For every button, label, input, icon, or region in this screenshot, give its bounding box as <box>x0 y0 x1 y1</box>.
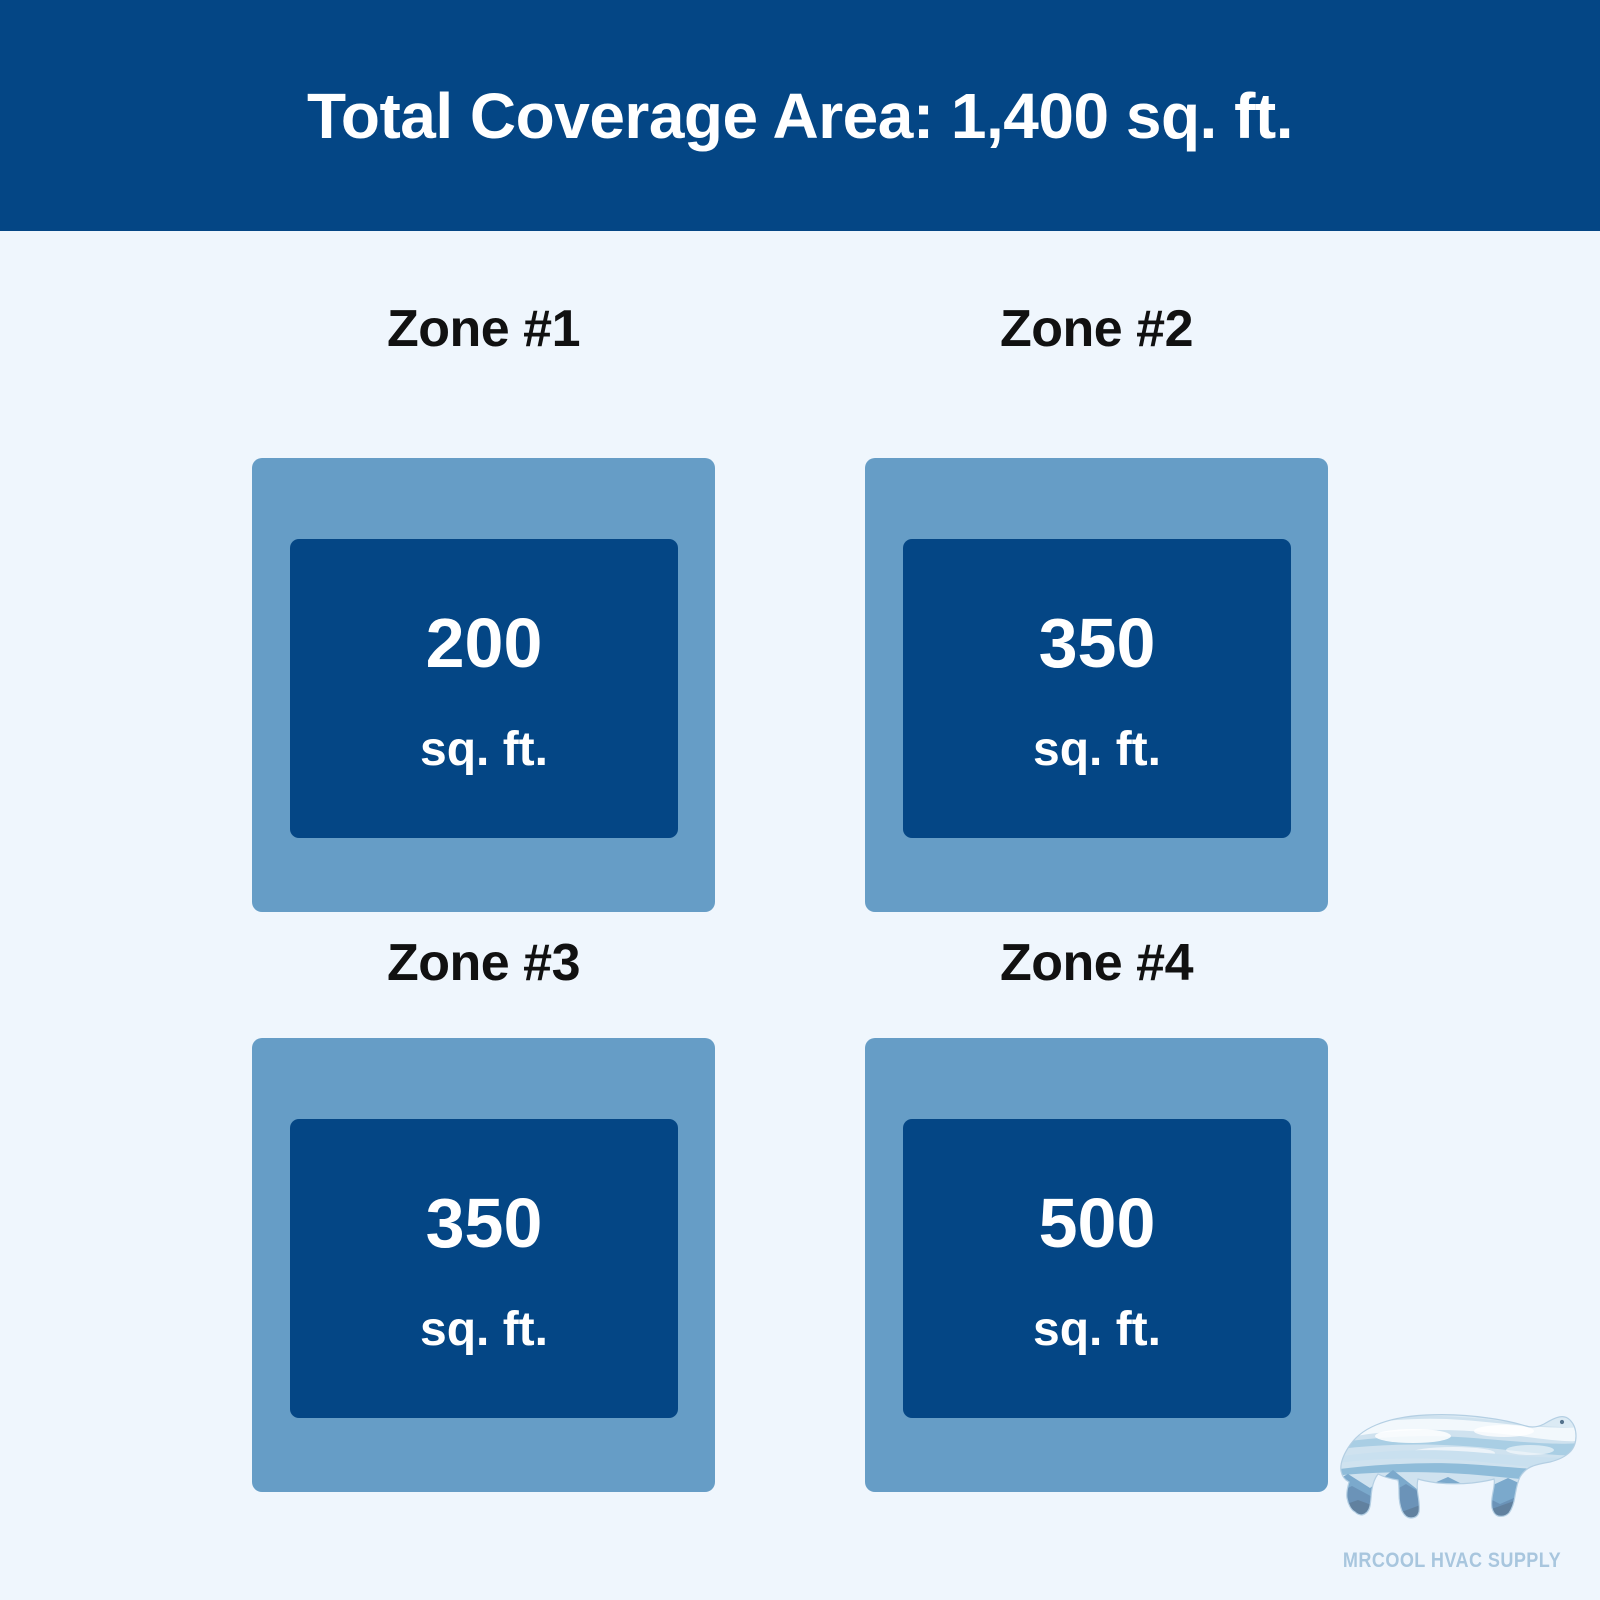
bear-landscape-fill <box>1318 1382 1586 1547</box>
bear-eye-icon <box>1560 1420 1564 1424</box>
zone-card-3[interactable]: 350 sq. ft. <box>252 1038 715 1492</box>
zone-value-2: 350 <box>1039 608 1156 678</box>
zone-label-1: Zone #1 <box>252 303 715 355</box>
zone-value-4: 500 <box>1039 1188 1156 1258</box>
zone-label-2: Zone #2 <box>865 303 1328 355</box>
brand-logo: MRCOOL HVAC SUPPLY <box>1318 1382 1586 1588</box>
polar-bear-icon <box>1318 1382 1586 1547</box>
zone-card-4[interactable]: 500 sq. ft. <box>865 1038 1328 1492</box>
zone-label-3: Zone #3 <box>252 937 715 989</box>
zone-unit-4: sq. ft. <box>1033 1306 1161 1354</box>
page-title: Total Coverage Area: 1,400 sq. ft. <box>307 84 1293 148</box>
zone-unit-3: sq. ft. <box>420 1306 548 1354</box>
zone-value-card-1: 200 sq. ft. <box>290 539 678 838</box>
zone-card-1[interactable]: 200 sq. ft. <box>252 458 715 912</box>
zone-unit-2: sq. ft. <box>1033 726 1161 774</box>
logo-caption: MRCOOL HVAC SUPPLY <box>1337 1550 1567 1571</box>
zone-label-4: Zone #4 <box>865 937 1328 989</box>
zone-value-1: 200 <box>426 608 543 678</box>
zone-card-2[interactable]: 350 sq. ft. <box>865 458 1328 912</box>
zone-unit-1: sq. ft. <box>420 726 548 774</box>
zone-value-card-3: 350 sq. ft. <box>290 1119 678 1418</box>
zone-value-3: 350 <box>426 1188 543 1258</box>
zone-value-card-2: 350 sq. ft. <box>903 539 1291 838</box>
header-banner: Total Coverage Area: 1,400 sq. ft. <box>0 0 1600 231</box>
zone-value-card-4: 500 sq. ft. <box>903 1119 1291 1418</box>
